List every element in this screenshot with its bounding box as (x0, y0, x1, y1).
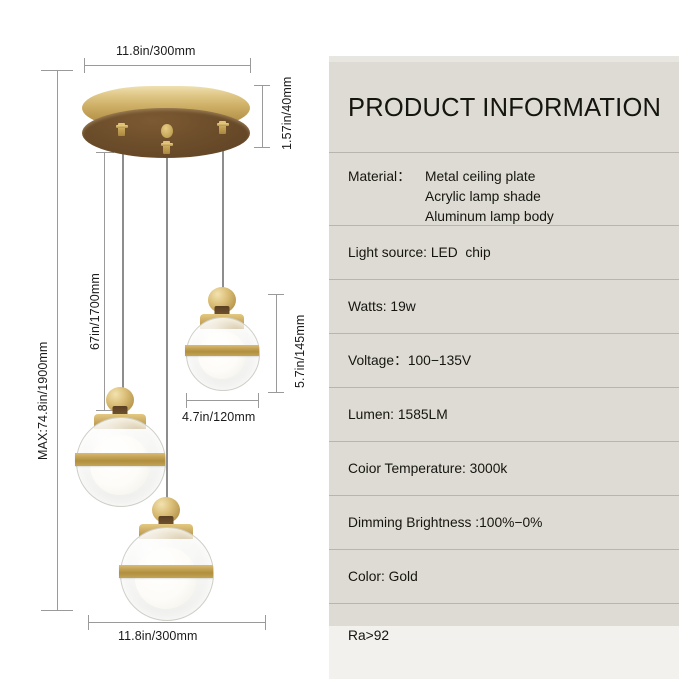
cable-drop-dimension-line (104, 152, 105, 410)
ceiling-canopy (82, 86, 250, 158)
globe-height-dimension-line (276, 294, 277, 392)
spec-row-label: Lumen: 1585LM (348, 405, 448, 425)
canopy-width-dimension-line (84, 65, 251, 66)
max-drop-tick-top (41, 70, 73, 71)
spec-row: Light source: LED chip (329, 225, 679, 279)
canopy-width-tick-left (84, 58, 85, 73)
product-spec-image: MAX:74.8in/1900mm 67in/1700mm 11.8in/300… (0, 0, 679, 679)
spread-width-tick-left (88, 615, 89, 630)
spec-row-label: Watts: 19w (348, 297, 416, 317)
spec-row: Watts: 19w (329, 279, 679, 333)
globe-width-tick-right (258, 393, 259, 408)
spec-row: Ra>92 (329, 603, 679, 679)
spec-row: Dimming Brightness :100%−0% (329, 495, 679, 549)
spec-row: Voltage：100−135V (329, 333, 679, 387)
cable-grip-left (118, 123, 125, 136)
suspension-cable-left (122, 130, 124, 405)
canopy-width-tick-right (250, 58, 251, 73)
canopy-center-fitting (161, 124, 173, 138)
spec-row-label: Ra>92 (348, 626, 389, 646)
max-drop-dimension-line (57, 70, 58, 610)
canopy-width-label: 11.8in/300mm (116, 44, 195, 58)
spec-row: Material：Metal ceiling plate Acrylic lam… (329, 152, 679, 225)
cable-drop-label: 67in/1700mm (88, 273, 102, 350)
lamp-diffuser (135, 547, 197, 609)
suspension-cable-center (166, 140, 168, 515)
pendant-lamp-upper-right (186, 287, 258, 403)
spread-width-tick-right (265, 615, 266, 630)
panel-left-gap (320, 0, 329, 679)
canopy-height-dimension-line (262, 85, 263, 147)
globe-width-dimension-line (186, 400, 258, 401)
canopy-height-tick-bottom (254, 147, 270, 148)
spec-row-label: Light source: LED chip (348, 243, 491, 263)
lamp-gold-band (185, 345, 259, 356)
spec-row: Color: Gold (329, 549, 679, 603)
cable-grip-right (219, 121, 226, 134)
globe-width-tick-left (186, 393, 187, 408)
spec-row-label: Coior Temperature: 3000k (348, 459, 507, 479)
technical-drawing: MAX:74.8in/1900mm 67in/1700mm 11.8in/300… (0, 0, 320, 679)
globe-height-label: 5.7in/145mm (293, 315, 307, 388)
spread-width-label: 11.8in/300mm (118, 629, 197, 643)
spec-row-label: Color: Gold (348, 567, 418, 587)
pendant-lamp-bottom-center (120, 497, 212, 633)
cable-grip-center (163, 141, 170, 154)
spec-row: Lumen: 1585LM (329, 387, 679, 441)
spec-row: Coior Temperature: 3000k (329, 441, 679, 495)
spread-width-dimension-line (88, 622, 266, 623)
lamp-gold-band (75, 453, 165, 466)
max-drop-label: MAX:74.8in/1900mm (36, 342, 50, 460)
product-information-panel: PRODUCT INFORMATION Material：Metal ceili… (329, 62, 679, 626)
canopy-height-label: 1.57in/40mm (280, 77, 294, 150)
spec-row-value: Metal ceiling plate Acrylic lamp shade A… (425, 167, 554, 227)
globe-width-label: 4.7in/120mm (182, 410, 255, 424)
lamp-gold-band (119, 565, 213, 578)
page-title: PRODUCT INFORMATION (348, 94, 661, 123)
spec-row-label: Dimming Brightness :100%−0% (348, 513, 542, 533)
spec-row-label: Voltage：100−135V (348, 351, 471, 371)
max-drop-tick-bottom (41, 610, 73, 611)
spec-row-label: Material： (348, 167, 411, 187)
canopy-height-tick-top (254, 85, 270, 86)
globe-height-tick-top (268, 294, 284, 295)
globe-height-tick-bottom (268, 392, 284, 393)
